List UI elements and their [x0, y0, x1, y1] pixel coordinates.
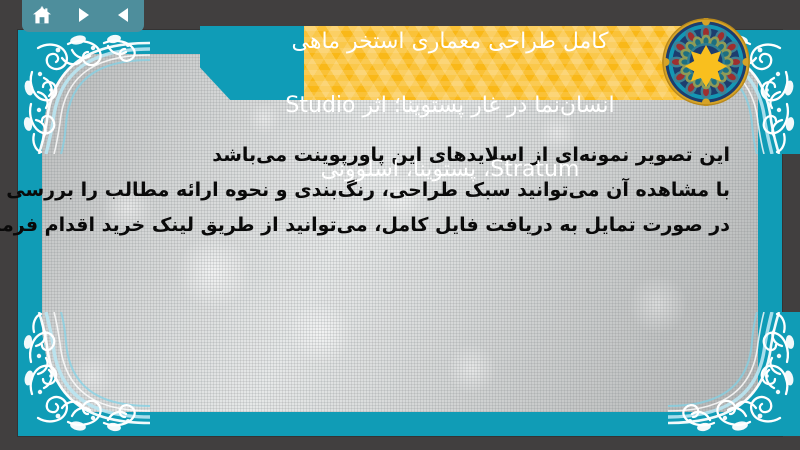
navigation-bar — [22, 0, 144, 32]
persian-mandala-ornament-icon — [662, 18, 750, 106]
slide-title-line-2: انسان‌نما در غار پستوینا؛ اثر Studio — [200, 90, 700, 122]
slide-title-banner: کامل طراحی معماری استخر ماهی انسان‌نما د… — [200, 0, 720, 100]
back-button[interactable] — [109, 2, 139, 28]
slide-title-line-1: کامل طراحی معماری استخر ماهی — [200, 26, 700, 58]
slide-viewer: کامل طراحی معماری استخر ماهی انسان‌نما د… — [0, 0, 800, 450]
triangle-right-icon — [74, 6, 92, 24]
slide-title: کامل طراحی معماری استخر ماهی انسان‌نما د… — [200, 0, 700, 218]
forward-button[interactable] — [68, 2, 98, 28]
slide-title-line-3: Stratum، پستوینا، اسلوونی — [200, 154, 700, 186]
triangle-left-icon — [115, 6, 133, 24]
home-icon — [32, 6, 52, 25]
home-button[interactable] — [27, 2, 57, 28]
